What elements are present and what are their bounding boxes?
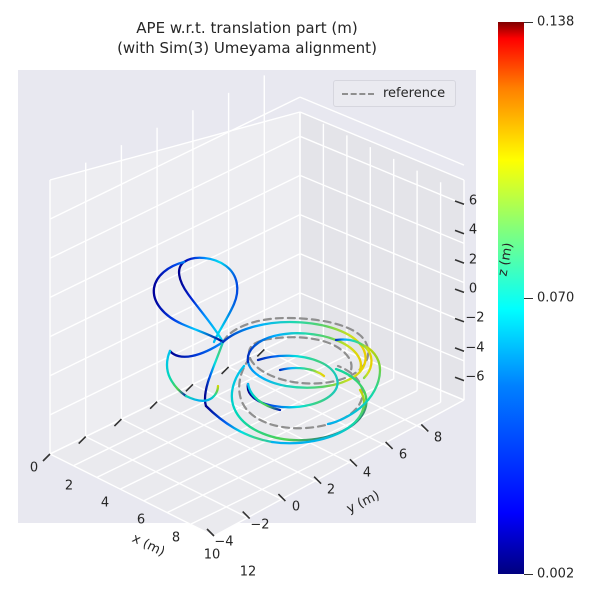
title-line-1: APE w.r.t. translation part (m) xyxy=(136,19,357,37)
y-tick-label: 8 xyxy=(434,431,442,446)
colorbar-tick-mark xyxy=(524,22,533,23)
colorbar-tick-label-max: 0.138 xyxy=(537,15,574,30)
z-tick-label: 2 xyxy=(469,253,477,268)
colorbar-tick-mark xyxy=(524,298,533,299)
plot-axes-3d[interactable]: 0 2 4 6 8 10 12 −4 −2 0 2 4 6 8 6 4 2 0 … xyxy=(18,70,476,523)
x-tick-label: 0 xyxy=(30,461,38,476)
colorbar-tick-mark xyxy=(524,574,533,575)
page-title: APE w.r.t. translation part (m) (with Si… xyxy=(0,18,494,58)
colorbar-gradient xyxy=(498,22,524,574)
colorbar-tick-label-min: 0.002 xyxy=(537,567,574,582)
x-tick-label: 6 xyxy=(137,513,145,528)
z-tick-label: 6 xyxy=(469,194,477,209)
legend-label-reference: reference xyxy=(383,86,445,101)
x-axis-label: x (m) xyxy=(129,531,167,560)
x-tick-label: 12 xyxy=(240,565,257,580)
colorbar-tick-label-mid: 0.070 xyxy=(537,291,574,306)
legend[interactable]: reference xyxy=(333,80,456,107)
colorbar[interactable]: 0.138 0.070 0.002 xyxy=(498,22,524,574)
z-tick-label: −2 xyxy=(465,311,484,326)
y-tick-label: −4 xyxy=(214,535,233,550)
z-tick-label: 4 xyxy=(469,223,477,238)
figure-canvas: APE w.r.t. translation part (m) (with Si… xyxy=(0,0,600,600)
title-line-2: (with Sim(3) Umeyama alignment) xyxy=(117,39,377,57)
trajectory-scene xyxy=(18,70,476,523)
legend-reference-line-icon xyxy=(342,93,374,95)
x-tick-label: 4 xyxy=(101,496,109,511)
y-tick-label: 0 xyxy=(292,500,300,515)
y-tick-label: 4 xyxy=(363,466,371,481)
z-tick-label: −6 xyxy=(465,370,484,385)
x-tick-label: 8 xyxy=(172,531,180,546)
z-tick-label: 0 xyxy=(469,282,477,297)
x-tick-label: 10 xyxy=(204,548,221,563)
y-tick-label: −2 xyxy=(250,518,269,533)
y-tick-label: 6 xyxy=(399,448,407,463)
y-tick-label: 2 xyxy=(327,483,335,498)
x-tick-label: 2 xyxy=(65,479,73,494)
z-tick-label: −4 xyxy=(465,341,484,356)
